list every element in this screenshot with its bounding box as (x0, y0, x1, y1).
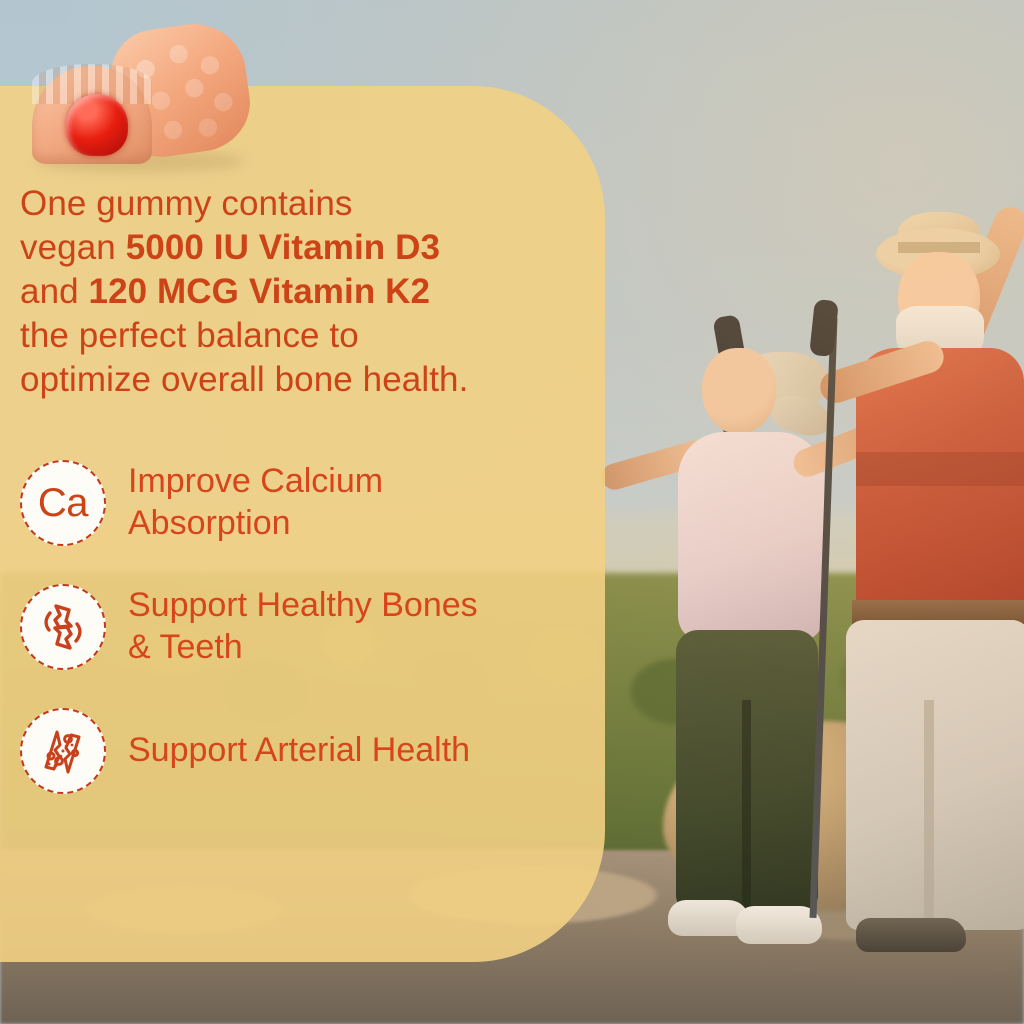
calcium-symbol-label: Ca (38, 483, 88, 523)
benefit-label-bones-teeth: Support Healthy Bones & Teeth (128, 585, 488, 668)
benefit-item-bones-teeth: Support Healthy Bones & Teeth (20, 584, 605, 670)
benefits-list: Ca Improve Calcium Absorption Support He… (20, 460, 605, 794)
headline-line-3-prefix: and (20, 272, 89, 311)
bone-joint-icon (20, 584, 106, 670)
headline-line-1: One gummy contains (20, 184, 353, 223)
info-card-panel: One gummy containsvegan 5000 IU Vitamin … (0, 86, 605, 962)
gummy-product-shot (10, 8, 260, 168)
gummy-red-filling (66, 94, 128, 156)
man-leg-separation (924, 700, 934, 930)
man-hiking-shoe (856, 918, 966, 952)
headline-line-4: the perfect balance to (20, 316, 359, 355)
artery-blood-flow-icon (20, 708, 106, 794)
benefit-item-calcium-absorption: Ca Improve Calcium Absorption (20, 460, 605, 546)
man-khaki-pants (846, 620, 1024, 930)
benefit-label-calcium-absorption: Improve Calcium Absorption (128, 461, 488, 544)
dosage-vitamin-k2: 120 MCG Vitamin K2 (89, 272, 431, 311)
headline-line-2-prefix: vegan (20, 228, 126, 267)
benefit-label-arterial-health: Support Arterial Health (128, 730, 488, 771)
headline-line-5: optimize overall bone health. (20, 360, 468, 399)
woman-leg-separation (742, 700, 751, 912)
woman-head (702, 348, 776, 434)
headline-text: One gummy containsvegan 5000 IU Vitamin … (20, 182, 510, 402)
benefit-item-arterial-health: Support Arterial Health (20, 708, 605, 794)
dosage-vitamin-d3: 5000 IU Vitamin D3 (126, 228, 440, 267)
calcium-ca-icon: Ca (20, 460, 106, 546)
man-shirt-stripe (856, 452, 1024, 486)
